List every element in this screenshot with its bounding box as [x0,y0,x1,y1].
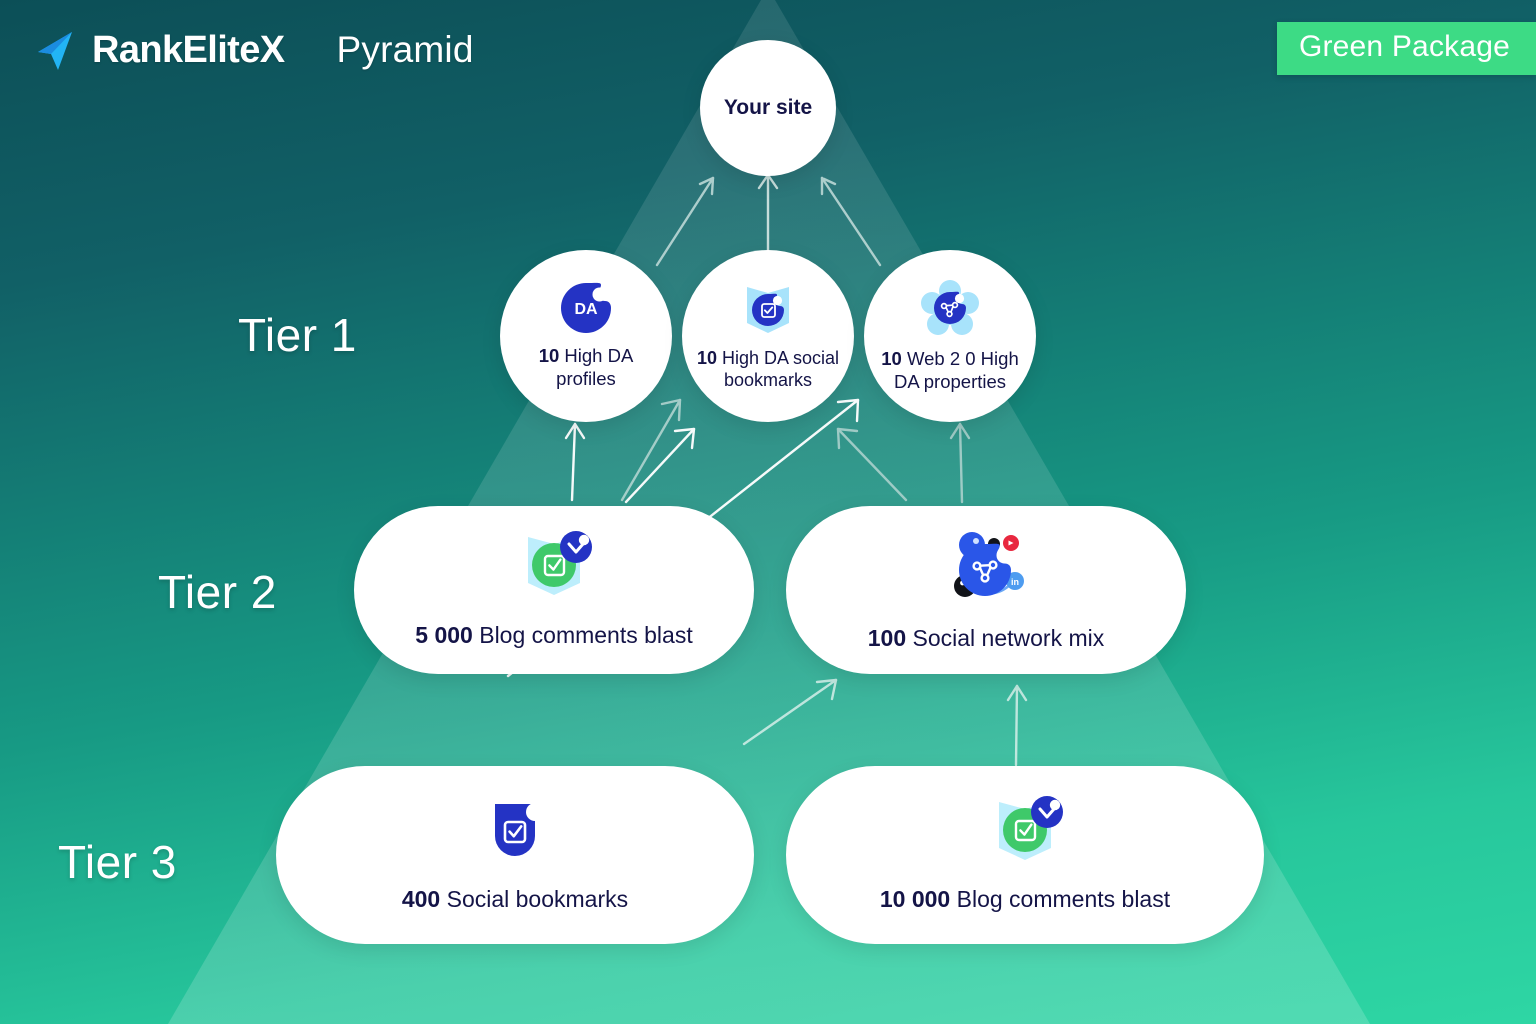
node-tier3-b-label: 10 000 Blog comments blast [825,885,1225,913]
web20-atom-share-icon [920,279,980,337]
node-tier2-a-label: 5 000 Blog comments blast [384,621,724,649]
da-badge-icon: DA [560,282,612,334]
arrow-t3a-to-t2b [744,680,836,744]
social-bookmark-shield-icon [477,796,553,872]
arrow-t2b-to-t1c [951,424,969,502]
social-network-cluster-icon: in [937,528,1035,610]
arrow-t2b-to-t1b-alt [838,429,906,500]
node-tier1-b-label: 10 High DA social bookmarks [685,348,851,392]
tier-3-label: Tier 3 [58,835,177,889]
page-subtitle: Pyramid [337,29,474,71]
node-tier2-social-network-mix[interactable]: in 100 Social network mix [786,506,1186,674]
svg-text:in: in [1011,577,1019,587]
arrow-t2a-to-t1b [626,429,694,502]
arrow-t2a-to-t1a [566,424,584,500]
node-tier3-a-label: 400 Social bookmarks [315,885,715,913]
node-tier1-high-da-profiles[interactable]: DA 10 High DA profiles [500,250,672,422]
node-tier1-a-label: 10 High DA profiles [511,345,661,390]
node-tier1-high-da-social-bookmarks[interactable]: 10 High DA social bookmarks [682,250,854,422]
svg-text:DA: DA [574,301,598,318]
arrow-t3b-to-t2b [1008,686,1026,765]
node-tier3-blog-comments-blast[interactable]: 10 000 Blog comments blast [786,766,1264,944]
arrow-play-logo-icon [32,26,80,74]
tier-2-label: Tier 2 [158,565,277,619]
node-tier1-web20-high-da-properties[interactable]: 10 Web 2 0 High DA properties [864,250,1036,422]
tier-1-label: Tier 1 [238,308,357,362]
node-tier2-b-label: 100 Social network mix [816,624,1156,652]
arrow-t1a-to-site [657,178,713,265]
arrow-t1c-to-site [822,178,880,265]
brand-logo[interactable]: RankEliteX [32,26,285,74]
page-header: RankEliteX Pyramid Green Package [0,0,1536,100]
package-badge[interactable]: Green Package [1277,22,1536,75]
brand-name: RankEliteX [92,29,285,72]
node-tier1-c-label: 10 Web 2 0 High DA properties [866,348,1034,393]
arrow-t2a-to-t1c [622,400,680,500]
blog-comment-green-check-icon [510,531,598,607]
bookmark-shield-check-icon [739,281,797,337]
node-tier3-social-bookmarks[interactable]: 400 Social bookmarks [276,766,754,944]
blog-comment-green-check-icon [981,796,1069,872]
node-tier2-blog-comments-blast[interactable]: 5 000 Blog comments blast [354,506,754,674]
